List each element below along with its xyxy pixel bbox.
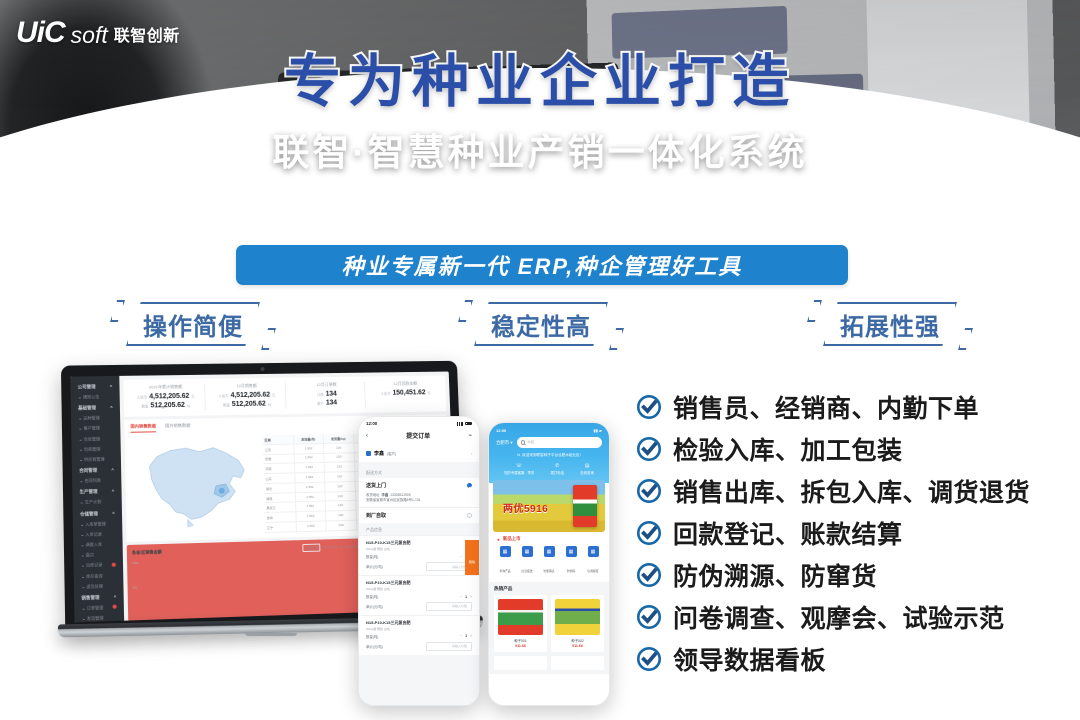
phone-navbar: ‹ 提交订单 ⌁: [359, 428, 479, 445]
product-spec: 50kg/袋 颗粒 白色: [366, 627, 472, 631]
check-circle-icon: [636, 604, 662, 630]
price-label: 单价(元/吨): [366, 604, 383, 609]
check-circle-icon: [636, 436, 662, 462]
logo-soft-text: soft: [71, 24, 108, 48]
sidebar-group-contract[interactable]: 合同管理^: [76, 464, 117, 476]
kpi-row: 数量 512,205.62 kg: [129, 402, 203, 410]
table-cell: 120: [326, 511, 356, 521]
sidebar-item-production-plan[interactable]: 生产计划: [77, 497, 118, 508]
delivery-option-home[interactable]: 送货上门: [359, 478, 479, 493]
city-label: 合肥市: [496, 440, 509, 445]
tab-domestic-sales[interactable]: 国内销售数据: [130, 423, 156, 432]
feature-label: 领导数据看板: [673, 641, 826, 677]
category-label: 信用额度: [587, 569, 598, 573]
check-circle-icon: [636, 520, 662, 546]
category-credit-limit[interactable]: ▦ 信用额度: [583, 546, 603, 576]
qty-label: 数量(吨): [366, 554, 378, 559]
date-from[interactable]: 2021-01-01: [322, 545, 337, 549]
price-label: 单价(元/吨): [366, 564, 383, 569]
feature-badges: 操作简便 稳定性高 拓展性强: [0, 298, 1080, 354]
kpi-row: 数量 512,205.62 kg: [211, 400, 284, 408]
sidebar-item-label: 出库记录: [86, 562, 103, 568]
china-map-icon: [130, 435, 261, 530]
kpi-label: 数量: [223, 402, 230, 407]
stepper-value: 1: [465, 595, 467, 599]
feature-item: 回款登记、账款结算: [636, 512, 1076, 554]
chevron-up-icon: ^: [114, 594, 117, 600]
kpi-card-month-sales: 12月销售额 人民币 4,512,205.62 元 数量 512,205.62 …: [208, 383, 286, 411]
product-price-field: 单价(元/吨) 请输入价格: [366, 642, 472, 651]
currency-select[interactable]: 人民币: [303, 543, 321, 552]
kpi-label: 人民币: [381, 391, 391, 396]
category-label: 智能销点: [543, 569, 554, 573]
table-cell: 120: [324, 443, 354, 452]
qr-icon: ▦: [500, 546, 511, 557]
stepper-value: 1: [465, 634, 467, 638]
address-name: 李鑫: [381, 493, 388, 497]
badge-slash-topleft-icon: [110, 300, 125, 322]
qr-icon: ▦: [544, 546, 555, 557]
mall-header: 12:00 ▮▮ ▰ 合肥市 ▾ 水稻 hi, 欢迎来到联智种子平台合肥水稻业区…: [489, 423, 609, 483]
status-time: 12:00: [496, 428, 506, 433]
badge-operation-simple: 操作简便: [108, 298, 278, 352]
feature-label: 问卷调查、观摩会、试验示范: [673, 599, 1005, 635]
badge-slash-bottomright-icon: [609, 328, 624, 350]
action-label: 拨打电话: [550, 471, 564, 475]
category-label: 信息报送: [521, 569, 532, 573]
logo-mark: UiC: [16, 18, 65, 48]
megaphone-icon: ◄: [496, 537, 500, 542]
hot-products-section: 热销产品 种子001 ¥11.66 种子002 ¥11.66: [489, 582, 609, 674]
kpi-value: 134: [325, 391, 336, 398]
kpi-value: 4,512,205.62: [149, 393, 189, 401]
badge-label: 操作简便: [126, 302, 260, 346]
hot-products-next-row: [494, 656, 604, 670]
chevron-up-icon: ^: [110, 405, 113, 411]
sidebar-group-company[interactable]: 公司管理^: [75, 381, 116, 393]
badge-slash-topleft-icon: [807, 300, 822, 322]
feature-item: 销售出库、拆包入库、调货退货: [636, 470, 1076, 512]
action-service[interactable]: ☏ 您的专属客服 - 李芳: [504, 463, 534, 475]
y-axis-max-label: 1500: [132, 562, 138, 565]
search-input[interactable]: 水稻: [517, 437, 602, 448]
table-cell: 120: [326, 501, 356, 510]
product-card[interactable]: 种子002 ¥11.66: [551, 595, 604, 652]
kpi-unit: 元: [272, 393, 275, 398]
table-cell: 120: [325, 463, 355, 472]
feature-label: 回款登记、账款结算: [673, 515, 903, 551]
qr-icon: ▦: [566, 546, 577, 557]
mall-quick-actions: ☏ 您的专属客服 - 李芳 ✆ 拨打电话 ▤ 在线咨询: [496, 463, 602, 475]
badge-stability-high: 稳定性高: [456, 298, 626, 352]
hot-products-grid: 种子001 ¥11.66 种子002 ¥11.66: [494, 595, 604, 652]
phone-mockup-mall: 12:00 ▮▮ ▰ 合肥市 ▾ 水稻 hi, 欢迎来到联智种子平台合肥水稻业区…: [488, 422, 610, 706]
product-item: N15-P10-K15三元复合肥 50kg/袋 颗粒 白色 数量(吨) − 1 …: [359, 615, 479, 655]
phone-nav-title: 提交订单: [406, 431, 430, 440]
product-price: ¥11.66: [555, 644, 600, 648]
mall-categories: ▦ 查询产品 ▦ 信息报送 ▦ 智能销点 ▦ 防伪码 ▦ 信用额度: [489, 544, 609, 581]
product-card[interactable]: 种子001 ¥11.66: [494, 595, 547, 652]
badge-slash-bottomright-icon: [261, 328, 276, 350]
battery-icon: [465, 422, 472, 426]
feature-list: 销售员、经销商、内勤下单 检验入库、加工包装 销售出库、拆包入库、调货退货 回款…: [636, 386, 1076, 680]
phone-status-bar: 12:00: [359, 417, 479, 428]
badge-label: 拓展性强: [823, 302, 957, 346]
product-name: N15-P10-K15三元复合肥: [366, 580, 472, 586]
doc-icon: ▤: [580, 463, 594, 469]
notification-badge: [112, 562, 116, 566]
dashboard-sidebar[interactable]: 公司管理^ 通知公告 基础管理^ 品种管理 客户管理 仓库管理 包装管理 供应商…: [70, 376, 124, 623]
erp-tagline-text: 种业专属新一代 ERP,种企管理好工具: [342, 249, 743, 281]
sidebar-group-label: 公司管理: [78, 384, 96, 390]
sidebar-group-label: 基础管理: [78, 405, 96, 411]
address-phone: 13305511909: [390, 493, 411, 497]
chevron-up-icon: ^: [110, 384, 113, 390]
kpi-unit: 元: [427, 390, 430, 395]
feature-item: 防伪溯源、防窜货: [636, 554, 1076, 596]
category-query-product[interactable]: ▦ 查询产品: [495, 546, 515, 576]
product-price-field: 单价(元/吨) 请输入价格: [366, 562, 472, 571]
action-call[interactable]: ✆ 拨打电话: [550, 463, 564, 475]
table-header-cell: 发货量(件): [294, 434, 324, 443]
mall-promo-banner[interactable]: 两优5916: [493, 480, 605, 532]
kpi-unit: kg: [268, 402, 271, 406]
customer-name: 李鑫: [374, 450, 384, 457]
product-image: [498, 599, 543, 635]
bar-shandong: [217, 573, 227, 620]
product-price: ¥11.66: [498, 644, 543, 648]
table-header-cell: 发货量(kg): [324, 434, 354, 443]
radio-unselected-icon[interactable]: [467, 513, 473, 519]
feature-item: 销售员、经销商、内勤下单: [636, 386, 1076, 428]
kpi-label: 人民币: [137, 394, 147, 399]
table-cell: 山东: [263, 474, 295, 483]
status-indicators: [457, 422, 472, 426]
city-selector[interactable]: 合肥市 ▾: [496, 440, 513, 446]
product-name: 种子002: [555, 638, 600, 643]
feature-item: 领导数据看板: [636, 638, 1076, 680]
feature-label: 销售员、经销商、内勤下单: [673, 389, 979, 425]
hero-subtitle: 联智·智慧种业产销一体化系统: [0, 122, 1080, 176]
logo-letter-u: UiC: [16, 16, 65, 49]
category-label: 查询产品: [499, 569, 510, 573]
sidebar-group-label: 销售管理: [81, 595, 99, 602]
product-image: [555, 599, 600, 635]
table-cell: 120: [326, 521, 356, 531]
sidebar-item-customer[interactable]: 客户管理: [75, 423, 116, 434]
bar-chart-title: 各省/区销售金额: [132, 549, 162, 556]
qty-label: 数量(吨): [366, 594, 378, 599]
badge-extensibility-strong: 拓展性强: [805, 298, 975, 352]
section-delivery-label: 配送方式: [359, 466, 479, 478]
feature-label: 检验入库、加工包装: [673, 431, 903, 467]
erp-tagline-banner: 种业专属新一代 ERP,种企管理好工具: [236, 245, 848, 285]
sidebar-group-label: 合同管理: [79, 468, 97, 474]
signal-icon: [457, 422, 463, 426]
delivery-option-label: 送货上门: [366, 482, 386, 489]
kpi-value: 4,512,205.62: [231, 392, 271, 400]
feature-item: 问卷调查、观摩会、试验示范: [636, 596, 1076, 638]
kpi-row: 人民币 150,451.62 元: [370, 389, 441, 397]
stepper-minus-icon[interactable]: −: [460, 595, 462, 599]
feature-label: 防伪溯源、防窜货: [673, 557, 877, 593]
sidebar-item-contract-list[interactable]: 合同列表: [76, 475, 117, 486]
qr-icon: ▦: [588, 546, 599, 557]
table-header-cell: 区域: [262, 435, 293, 444]
action-label: 您的专属客服 - 李芳: [504, 471, 534, 475]
kpi-card-month-orders: 12月订单数 订单 134 客户 134: [289, 381, 366, 409]
product-name: N15-P10-K15三元复合肥: [366, 540, 472, 546]
product-item: 删除 N15-P10-K15三元复合肥 50kg/袋 颗粒 白色 数量(吨) −…: [359, 535, 479, 575]
price-input[interactable]: 请输入价格: [426, 602, 472, 611]
kpi-card-month-payment: 12月回款金额 人民币 150,451.62 元: [368, 380, 443, 407]
promo-poster: UiC soft 联智创新 专为种业企业打造 联智·智慧种业产销一体化系统 种业…: [0, 0, 1080, 720]
chevron-up-icon: ^: [112, 510, 115, 516]
table-cell: 1,562: [295, 483, 325, 492]
kpi-title: 12月订单数: [291, 381, 363, 388]
kpi-row: 订单 134: [291, 390, 363, 398]
table-cell: 湖南: [264, 493, 296, 503]
kpi-title: 12月销售额: [210, 383, 283, 390]
customer-row: 李鑫 (客户) ›: [366, 450, 472, 457]
qr-icon: ▦: [522, 546, 533, 557]
feature-item: 检验入库、加工包装: [636, 428, 1076, 470]
table-cell: 1,562: [295, 492, 325, 501]
address-label: 收货地址: [366, 493, 380, 497]
stepper-minus-icon[interactable]: −: [460, 634, 462, 638]
laptop-camera-icon: [261, 367, 265, 371]
category-anti-counterfeit[interactable]: ▦ 防伪码: [561, 546, 581, 576]
table-cell: 黑龙江: [264, 503, 296, 513]
hero-title: 专为种业企业打造: [0, 36, 1080, 118]
bar-anhui: [174, 563, 184, 620]
stepper-minus-icon[interactable]: −: [460, 555, 462, 559]
bar-chart-card: 各省/区销售金额 人民币 2021-01-01 至 2021-12-31 150…: [127, 538, 367, 621]
sidebar-group-label: 生产管理: [79, 489, 97, 496]
sidebar-item-supplier[interactable]: 供应商管理: [76, 454, 117, 465]
table-cell: 河南: [263, 464, 295, 473]
table-cell: 1,562: [294, 463, 324, 472]
kpi-row: 人民币 4,512,205.62 元: [129, 393, 203, 401]
date-separator: 至: [340, 545, 343, 549]
phone-order-body: 李鑫 (客户) › 配送方式 送货上门 收货地址 李鑫 13305511909 …: [359, 445, 479, 706]
bar-chart-plot: 1500 800: [132, 553, 362, 620]
check-circle-icon: [636, 646, 662, 672]
kpi-value: 150,451.62: [392, 389, 425, 396]
brand-logo: UiC soft 联智创新: [16, 18, 180, 48]
y-axis-mid-label: 800: [133, 586, 138, 589]
kpi-row: 客户 134: [291, 399, 363, 407]
kpi-title: 12月回款金额: [370, 380, 441, 387]
stepper-plus-icon[interactable]: +: [470, 595, 472, 599]
product-qty-field: 数量(吨) − 1 +: [366, 594, 472, 599]
product-item: N15-P10-K15三元复合肥 50kg/袋 颗粒 白色 数量(吨) − 1 …: [359, 575, 479, 615]
address-detail: 安徽省宣城市宣州区民族路8号1-101: [366, 498, 421, 502]
sidebar-item-label: 订单管理: [87, 605, 104, 611]
chevron-right-icon[interactable]: ›: [471, 452, 472, 456]
table-cell: 1,562: [296, 521, 326, 531]
qty-label: 数量(吨): [366, 634, 378, 639]
category-info-report[interactable]: ▦ 信息报送: [517, 546, 537, 576]
quantity-stepper[interactable]: − 1 +: [460, 634, 472, 638]
table-cell: 吉林: [265, 512, 297, 522]
kpi-label: 客户: [317, 401, 324, 406]
status-indicators: ▮▮ ▰: [593, 428, 602, 433]
mall-status-bar: 12:00 ▮▮ ▰: [496, 428, 602, 433]
search-placeholder: 水稻: [527, 440, 534, 445]
kpi-label: 数量: [142, 403, 149, 408]
customer-card[interactable]: 李鑫 (客户) ›: [359, 445, 479, 462]
product-spec: 50kg/袋 颗粒 白色: [366, 587, 472, 591]
customer-tag: (客户): [387, 451, 396, 456]
bar-hubei: [239, 610, 248, 619]
new-arrivals-header: ◄ 新品上市: [489, 532, 609, 544]
product-spec: 50kg/袋 颗粒 白色: [366, 547, 472, 551]
phone-mockup-order: 12:00 ‹ 提交订单 ⌁ 李鑫 (客户) ›: [358, 416, 480, 706]
product-price-field: 单价(元/吨) 请输入价格: [366, 602, 472, 611]
table-cell: 湖北: [264, 483, 296, 492]
logo-chinese-text: 联智创新: [114, 29, 180, 48]
bar-chart-controls: 人民币 2021-01-01 至 2021-12-31: [303, 542, 360, 552]
badge-slash-topleft-icon: [458, 300, 473, 322]
laptop-notch: [245, 633, 297, 636]
kpi-value: 512,205.62: [150, 402, 185, 410]
action-label: 在线咨询: [580, 471, 594, 475]
section-product-label: 产品信息: [359, 523, 479, 535]
check-circle-icon: [636, 394, 662, 420]
sidebar-item-variety[interactable]: 品种管理: [75, 413, 116, 424]
radio-selected-icon[interactable]: [467, 483, 473, 489]
kpi-unit: 元: [191, 394, 194, 399]
pickup-option-label: 到厂自取: [366, 512, 386, 519]
bars-container: [142, 553, 362, 620]
check-circle-icon: [636, 562, 662, 588]
table-cell: 1,562: [295, 473, 325, 482]
table-cell: 辽宁: [265, 522, 297, 532]
product-name: N15-P10-K15三元复合肥: [366, 620, 472, 626]
welcome-text: hi, 欢迎来到联智种子平台合肥水稻业区!: [496, 453, 602, 458]
share-icon[interactable]: ⌁: [468, 432, 472, 439]
kpi-label: 人民币: [218, 393, 228, 398]
kpi-title: 2021年累计销售额: [129, 384, 203, 391]
tab-overseas-sales[interactable]: 国外销售数据: [165, 423, 191, 432]
kpi-card-annual-sales: 2021年累计销售额 人民币 4,512,205.62 元 数量 512,205…: [127, 384, 206, 412]
product-card-partial[interactable]: [551, 656, 604, 670]
stepper-plus-icon[interactable]: +: [470, 634, 472, 638]
badge-label: 稳定性高: [474, 302, 608, 346]
table-cell: 120: [325, 472, 355, 481]
category-smart-point[interactable]: ▦ 智能销点: [539, 546, 559, 576]
sidebar-group-label: 仓储管理: [80, 511, 98, 518]
notification-badge: [112, 605, 116, 609]
product-qty-field: 数量(吨) − 1 +: [366, 634, 472, 639]
banner-product-pack-icon: [573, 485, 597, 527]
table-cell: 1,562: [294, 453, 324, 462]
table-cell: 120: [325, 492, 355, 501]
kpi-label: 订单: [317, 392, 324, 397]
kpi-unit: kg: [187, 404, 190, 408]
customer-icon: [366, 451, 371, 456]
table-cell: 1,562: [296, 512, 326, 522]
kpi-row: 人民币 4,512,205.62 元: [210, 391, 283, 399]
table-cell: 1,562: [294, 444, 324, 453]
check-circle-icon: [636, 478, 662, 504]
chevron-up-icon: ^: [111, 467, 114, 473]
kpi-card-row: 2021年累计销售额 人民币 4,512,205.62 元 数量 512,205…: [123, 375, 446, 416]
phone-icon: ✆: [550, 463, 564, 469]
price-input[interactable]: 请输入价格: [426, 642, 472, 651]
sidebar-item-shipping[interactable]: 发货管理: [79, 613, 121, 623]
action-consult[interactable]: ▤ 在线咨询: [580, 463, 594, 475]
table-cell: 120: [324, 453, 354, 462]
sidebar-item-returns[interactable]: 退货处理: [78, 581, 119, 593]
search-icon: [521, 440, 526, 445]
badge-slash-bottomright-icon: [958, 328, 973, 350]
product-card-partial[interactable]: [494, 656, 547, 670]
category-label: 防伪码: [567, 569, 575, 573]
customer-name-wrap: 李鑫 (客户): [366, 450, 396, 457]
table-cell: 江苏: [263, 444, 294, 453]
kpi-value: 512,205.62: [232, 401, 266, 408]
banner-title: 两优5916: [503, 500, 548, 515]
new-arrivals-label: 新品上市: [503, 536, 521, 542]
chevron-left-icon[interactable]: ‹: [366, 433, 368, 439]
quantity-stepper[interactable]: − 1 +: [460, 595, 472, 599]
headset-icon: ☏: [504, 463, 534, 469]
sidebar-item-notice[interactable]: 通知公告: [75, 392, 116, 403]
sidebar-group-basic[interactable]: 基础管理^: [75, 402, 116, 414]
table-cell: 安徽: [263, 454, 295, 463]
kpi-value: 134: [326, 399, 337, 406]
chevron-up-icon: ^: [112, 489, 115, 495]
china-map[interactable]: [130, 435, 261, 530]
hot-products-title: 热销产品: [494, 586, 604, 592]
table-cell: 1,562: [296, 502, 326, 512]
status-time: 12:00: [366, 421, 377, 426]
product-qty-field: 数量(吨) − 1 +: [366, 554, 472, 559]
delivery-address[interactable]: 收货地址 李鑫 13305511909 安徽省宣城市宣州区民族路8号1-101: [359, 493, 479, 507]
product-name: 种子001: [498, 638, 543, 643]
feature-label: 销售出库、拆包入库、调货退货: [673, 473, 1030, 509]
table-cell: 120: [325, 482, 355, 491]
delivery-option-pickup[interactable]: 到厂自取: [359, 507, 479, 523]
mall-search-row: 合肥市 ▾ 水稻: [496, 437, 602, 448]
price-label: 单价(元/吨): [366, 644, 383, 649]
